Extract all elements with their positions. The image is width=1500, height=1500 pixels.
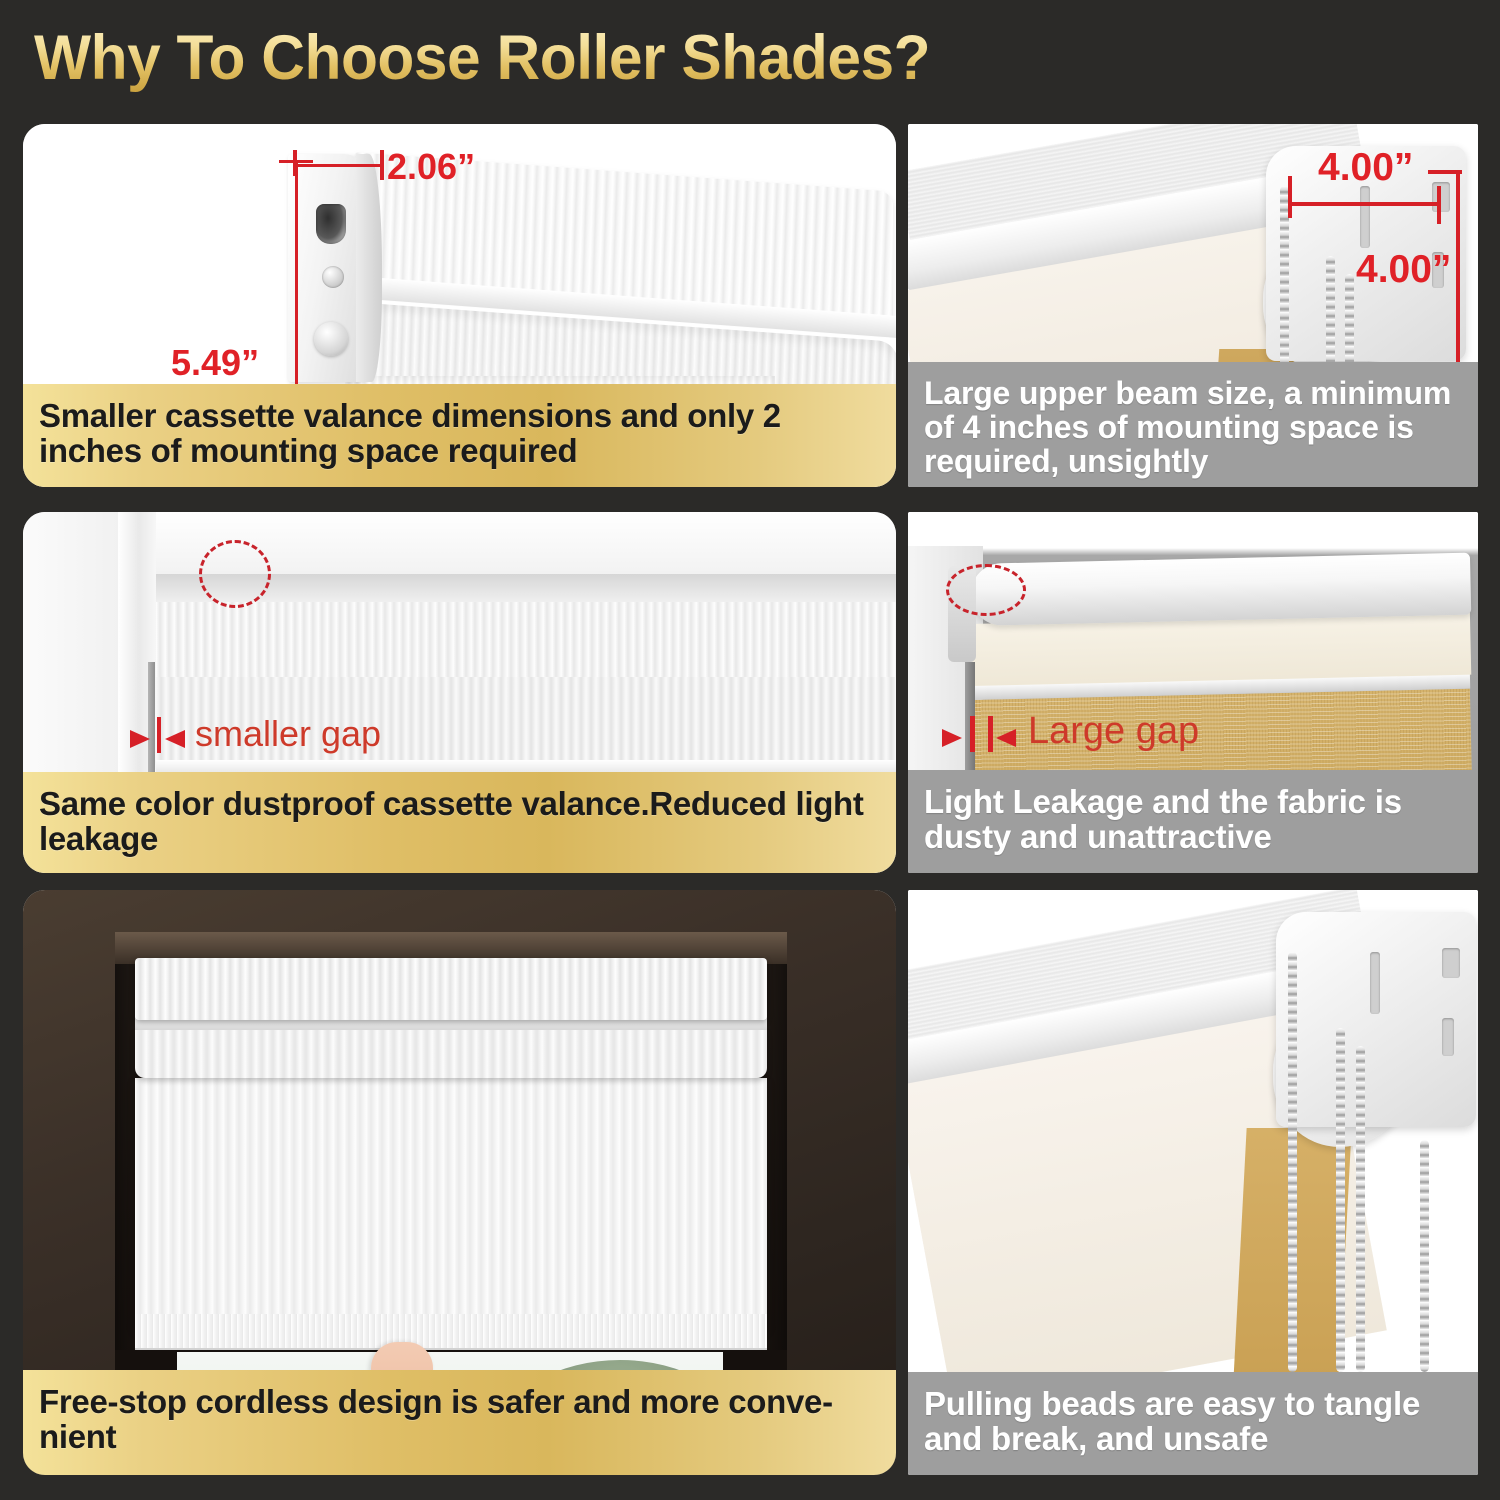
dimension-tick-left <box>293 150 297 176</box>
panel-cassette-valance: 2.06” 5.49” Smaller cassette valance dim… <box>23 124 896 487</box>
dimension-label-width: 4.00” <box>1318 146 1413 190</box>
cassette-valance <box>135 958 767 1020</box>
panel-cordless-design: Free-stop cordless design is safer and m… <box>23 890 896 1475</box>
shade-fabric-upper <box>156 602 896 677</box>
panel-pulling-beads: Pulling beads are easy to tangle and bre… <box>908 890 1478 1475</box>
bead-chain-right <box>1420 1140 1429 1372</box>
panel-3-caption: Same color dustproof cassette valance.Re… <box>23 772 896 873</box>
roller-shade-fabric <box>135 1078 767 1328</box>
upper-beam-tube <box>970 553 1471 626</box>
gap-arrow-right-icon <box>996 729 1016 747</box>
panel-large-upper-beam: 4.00” 4.00” Large upper beam size, a min… <box>908 124 1478 487</box>
bracket-slot-bottom <box>1442 1018 1454 1056</box>
gap-arrow-right-icon <box>165 730 185 748</box>
gap-label: Large gap <box>1028 710 1199 753</box>
gap-tick-a <box>970 716 975 752</box>
panel-light-leakage: Large gap Light Leakage and the fabric i… <box>908 512 1478 873</box>
dimension-tick-left <box>1288 176 1292 218</box>
shade-roll <box>135 1030 767 1078</box>
bead-chain-mid2 <box>1356 1046 1365 1372</box>
gap-tick-b <box>988 716 993 752</box>
dimension-label-height: 4.00” <box>1356 248 1451 292</box>
dimension-tick-right <box>380 150 384 180</box>
bead-chain-left <box>1288 952 1297 1372</box>
dimension-line-width <box>295 164 383 167</box>
screw-icon <box>322 266 344 288</box>
panel-5-caption: Free-stop cordless design is safer and m… <box>23 1370 896 1475</box>
shade-bottom-rail <box>135 1314 767 1350</box>
gap-tick <box>157 717 161 753</box>
panel-1-caption: Smaller cassette valance dimensions and … <box>23 384 896 487</box>
bracket-groove <box>1360 186 1370 248</box>
bracket-slot-top <box>1432 182 1450 212</box>
bracket-groove <box>1370 952 1380 1014</box>
dimension-cap-top <box>1428 170 1462 174</box>
panel-4-caption: Light Leakage and the fabric is dusty an… <box>908 770 1478 873</box>
gap-arrow-left-icon <box>130 730 150 748</box>
dimension-label-width: 2.06” <box>387 146 475 188</box>
dimension-tick-right <box>1437 186 1441 224</box>
gap-label: smaller gap <box>195 713 381 755</box>
valance-knob <box>314 322 348 356</box>
dimension-label-height: 5.49” <box>171 342 259 384</box>
panel-2-caption: Large upper beam size, a minimum of 4 in… <box>908 362 1478 487</box>
highlight-circle-icon <box>946 564 1026 616</box>
bead-chain-mid <box>1336 1028 1345 1372</box>
infographic-root: Why To Choose Roller Shades? 2.06” 5.49”… <box>0 0 1500 1500</box>
dimension-line-width <box>1290 202 1440 206</box>
valance-bracket-hole <box>316 204 346 244</box>
page-title: Why To Choose Roller Shades? <box>34 22 930 94</box>
panel-dustproof-cassette: smaller gap Same color dustproof cassett… <box>23 512 896 873</box>
highlight-circle-icon <box>199 540 271 608</box>
panel-6-caption: Pulling beads are easy to tangle and bre… <box>908 1372 1478 1475</box>
bracket-slot-top <box>1442 948 1460 978</box>
dimension-line-height <box>1456 170 1460 368</box>
gap-arrow-left-icon <box>942 729 962 747</box>
